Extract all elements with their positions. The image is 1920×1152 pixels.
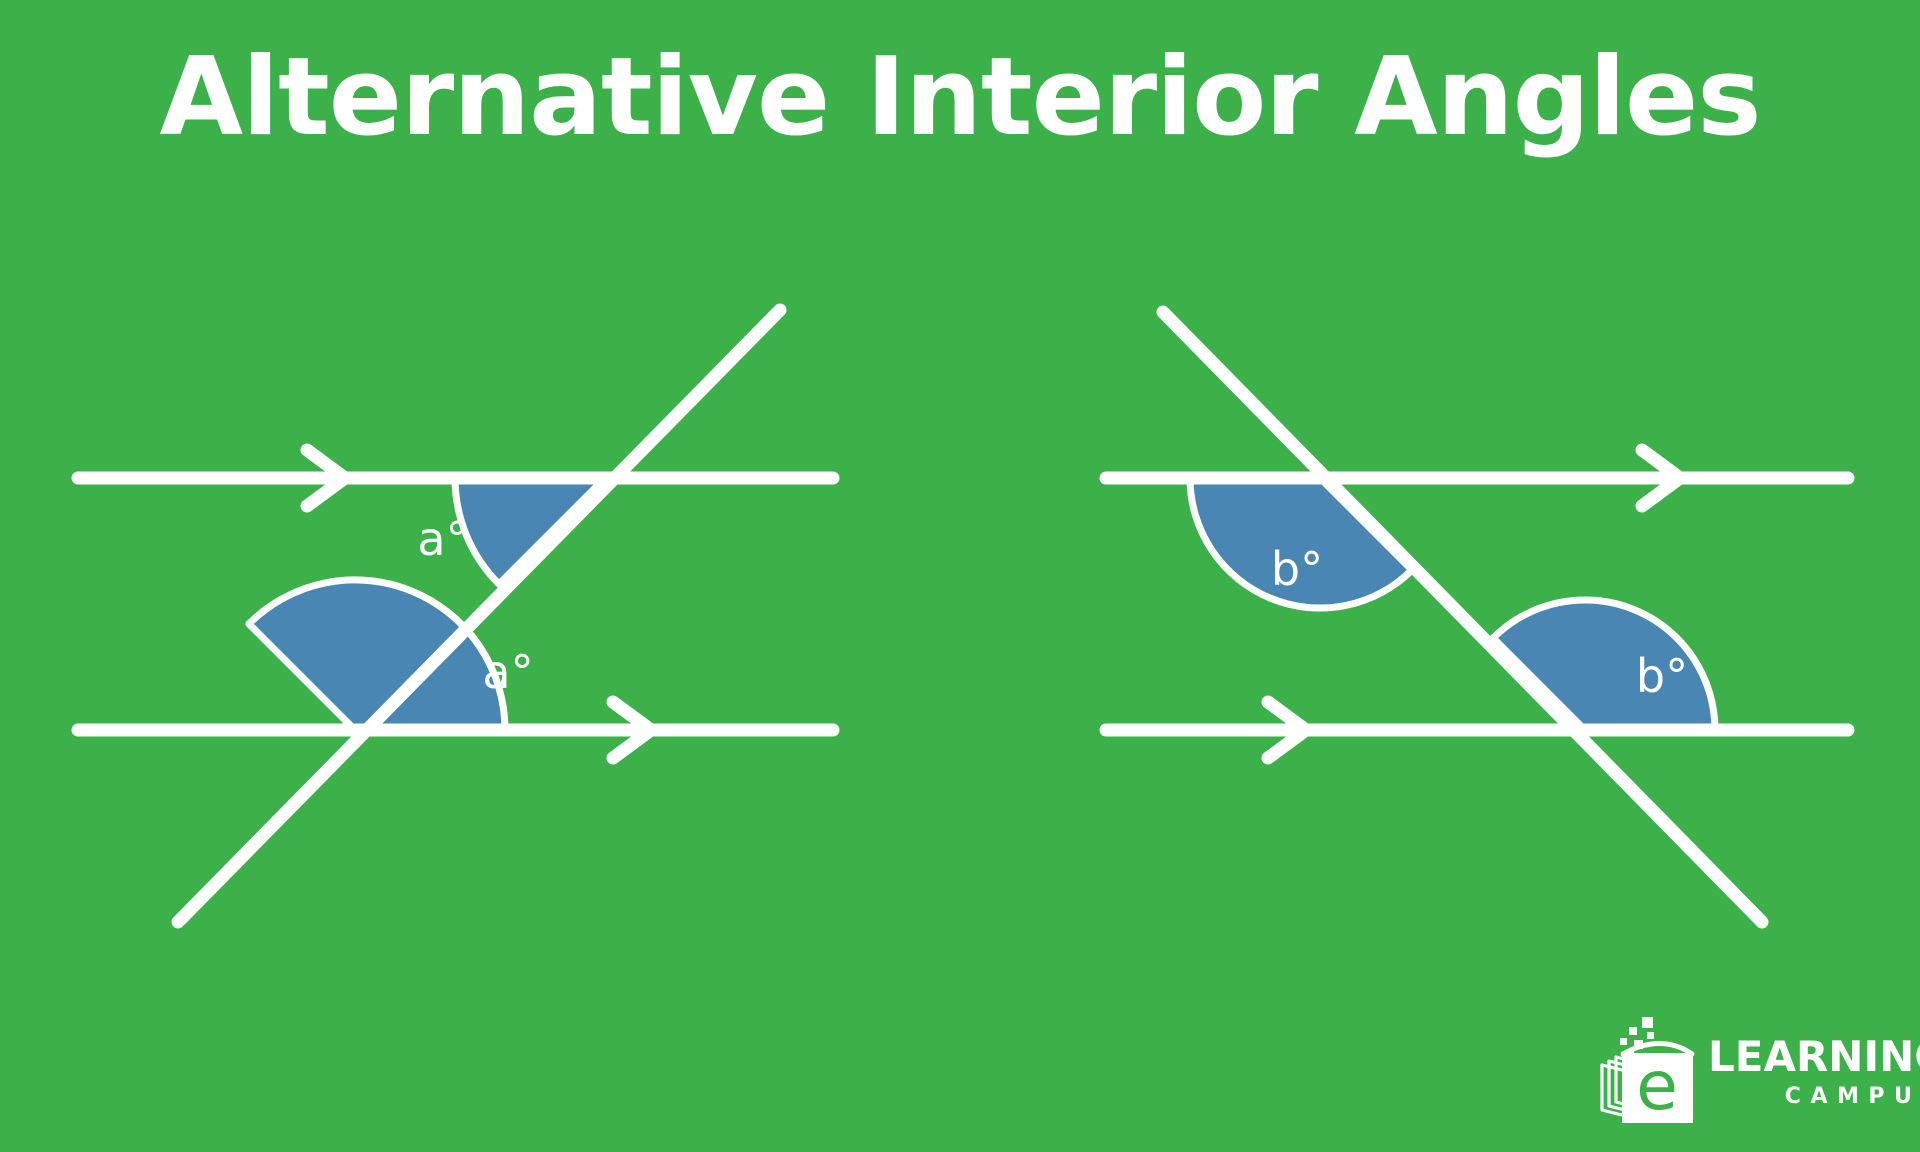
angle-label-b-upper: b° xyxy=(1271,542,1323,596)
logo-e-letter: e xyxy=(1636,1047,1678,1126)
logo-line-campus: CAMPUS xyxy=(1708,1084,1920,1110)
angle-label-b-lower: b° xyxy=(1636,649,1688,703)
poster-canvas: Alternative Interior Angles a° a° xyxy=(0,0,1920,1152)
logo-wordmark: LEARNING CAMPUS xyxy=(1708,1036,1920,1110)
right-diagram: b° b° xyxy=(0,0,1920,1152)
brand-logo[interactable]: e LEARNING CAMPUS xyxy=(1596,1010,1896,1132)
transversal-line-right-figure xyxy=(1163,312,1762,922)
logo-line-learning: LEARNING xyxy=(1708,1036,1920,1078)
